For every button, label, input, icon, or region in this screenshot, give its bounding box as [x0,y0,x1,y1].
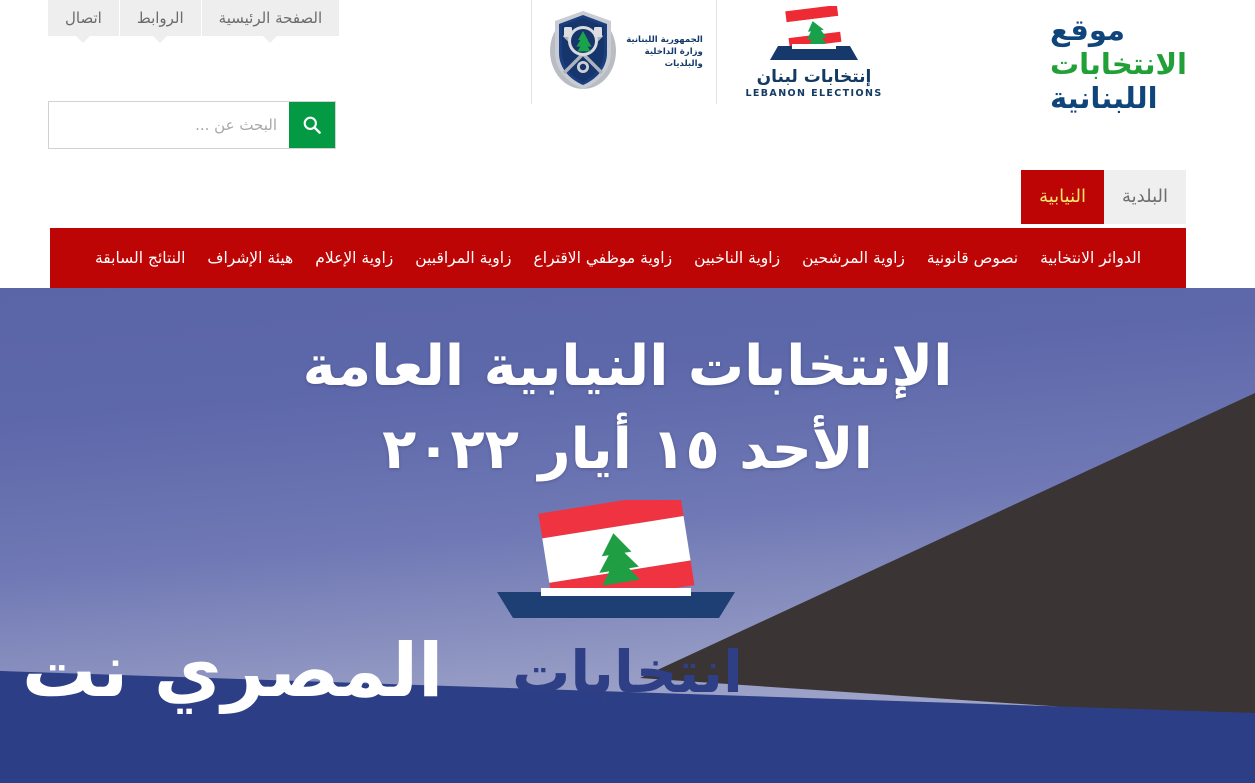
page-root: الصفحة الرئيسية الروابط اتصال [0,0,1255,783]
ballot-box-with-lebanese-flag-paper [489,500,743,620]
site-title-line-3: اللبنانية [1050,82,1187,116]
lebanon-ministry-shield-emblem [545,5,621,99]
search-button[interactable] [289,102,335,148]
nav-item-supervisory-body[interactable]: هيئة الإشراف [196,249,304,267]
nav-item-candidates-corner[interactable]: زاوية المرشحين [791,249,916,267]
hero-heading-line-2: الأحد ١٥ أيار ٢٠٢٢ [0,409,1255,492]
top-tab-contact[interactable]: اتصال [48,0,119,36]
nav-item-media-corner[interactable]: زاوية الإعلام [304,249,404,267]
nav-item-voters-corner[interactable]: زاوية الناخبين [683,249,791,267]
site-title-line-2: الانتخابات [1050,48,1187,82]
search-input[interactable] [49,102,289,148]
watermark-text: المصري نت [22,628,443,714]
category-tab-strip: البلدية النيابية [1021,170,1186,224]
ministry-line-1: الجمهورية اللبنانية [626,34,703,46]
tab-municipal[interactable]: البلدية [1104,170,1186,224]
top-tab-links[interactable]: الروابط [119,0,201,36]
site-title: موقع الانتخابات اللبنانية [1050,14,1187,116]
search-icon [302,115,322,135]
ballot-box-flag-icon [762,6,866,66]
top-tab-strip: الصفحة الرئيسية الروابط اتصال [48,0,339,36]
ministry-logo[interactable]: الجمهورية اللبنانية وزارة الداخلية والبل… [531,0,716,104]
elections-logo-arabic: إنتخابات لبنان [757,67,872,87]
hero-heading: الإنتخابات النيابية العامة الأحد ١٥ أيار… [0,326,1255,492]
nav-item-legal-texts[interactable]: نصوص قانونية [916,249,1029,267]
tab-parliamentary[interactable]: النيابية [1021,170,1104,224]
ministry-line-3: والبلديات [626,58,703,70]
nav-item-electoral-districts[interactable]: الدوائر الانتخابية [1029,249,1152,267]
top-tab-home[interactable]: الصفحة الرئيسية [201,0,340,36]
main-navigation: الدوائر الانتخابية نصوص قانونية زاوية ال… [50,228,1186,288]
lebanon-elections-logo[interactable]: إنتخابات لبنان LEBANON ELECTIONS [716,0,911,104]
logo-zone: إنتخابات لبنان LEBANON ELECTIONS الجمهور… [531,0,911,104]
search-box [48,101,336,149]
nav-item-previous-results[interactable]: النتائج السابقة [84,249,196,267]
site-title-line-1: موقع [1050,14,1187,48]
elections-logo-english: LEBANON ELECTIONS [745,88,882,99]
nav-item-observers-corner[interactable]: زاوية المراقبين [404,249,522,267]
hero-banner: الإنتخابات النيابية العامة الأحد ١٥ أيار… [0,288,1255,783]
nav-item-poll-staff-corner[interactable]: زاوية موظفي الاقتراع [523,249,684,267]
hero-heading-line-1: الإنتخابات النيابية العامة [0,326,1255,409]
ministry-line-2: وزارة الداخلية [626,46,703,58]
